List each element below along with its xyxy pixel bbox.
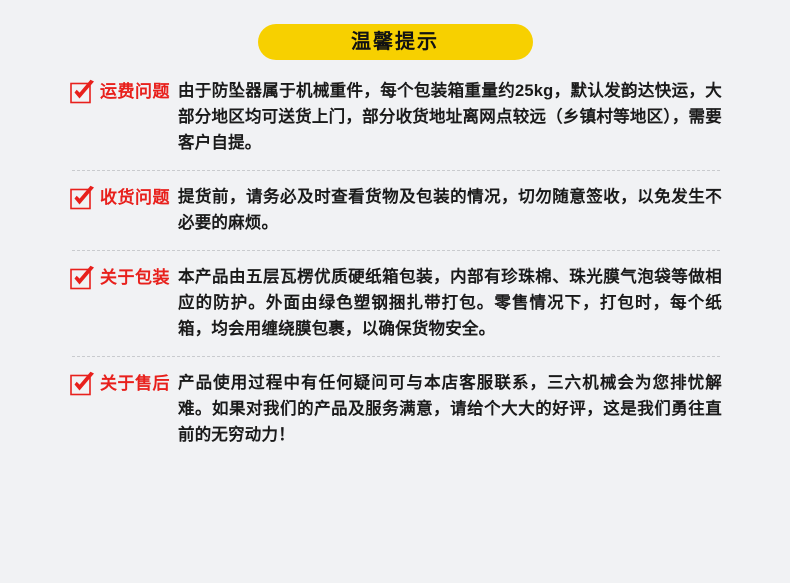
section-heading: 关于售后 [70, 370, 170, 396]
notice-section-after-sales: 关于售后 产品使用过程中有任何疑问可与本店客服联系，三六机械会为您排忧解难。如果… [0, 370, 790, 448]
notice-section-packaging: 关于包装 本产品由五层瓦楞优质硬纸箱包装，内部有珍珠棉、珠光膜气泡袋等做相应的防… [0, 264, 790, 342]
section-body-text: 提货前，请务必及时查看货物及包装的情况，切勿随意签收，以免发生不必要的麻烦。 [178, 184, 722, 236]
section-label: 运费问题 [100, 79, 170, 104]
section-divider [72, 356, 720, 357]
checkbox-checked-icon [70, 186, 96, 210]
section-label: 收货问题 [100, 185, 170, 210]
section-body-text: 产品使用过程中有任何疑问可与本店客服联系，三六机械会为您排忧解难。如果对我们的产… [178, 370, 722, 448]
header-pill: 温馨提示 [258, 24, 533, 60]
section-body-text: 本产品由五层瓦楞优质硬纸箱包装，内部有珍珠棉、珠光膜气泡袋等做相应的防护。外面由… [178, 264, 722, 342]
notice-section-receiving: 收货问题 提货前，请务必及时查看货物及包装的情况，切勿随意签收，以免发生不必要的… [0, 184, 790, 236]
checkbox-checked-icon [70, 80, 96, 104]
section-divider [72, 170, 720, 171]
notice-section-shipping-fee: 运费问题 由于防坠器属于机械重件，每个包装箱重量约25kg，默认发韵达快运，大部… [0, 78, 790, 156]
checkbox-checked-icon [70, 372, 96, 396]
section-divider [72, 250, 720, 251]
header-banner: 温馨提示 [0, 24, 790, 60]
section-heading: 收货问题 [70, 184, 170, 210]
page-title: 温馨提示 [351, 32, 439, 52]
section-heading: 关于包装 [70, 264, 170, 290]
section-label: 关于售后 [100, 371, 170, 396]
notice-page: 温馨提示 运费问题 由于防坠器属于机械重件，每个包装箱重量约25kg，默认发韵达… [0, 0, 790, 583]
section-label: 关于包装 [100, 265, 170, 290]
notice-sections: 运费问题 由于防坠器属于机械重件，每个包装箱重量约25kg，默认发韵达快运，大部… [0, 78, 790, 448]
section-heading: 运费问题 [70, 78, 170, 104]
checkbox-checked-icon [70, 266, 96, 290]
section-body-text: 由于防坠器属于机械重件，每个包装箱重量约25kg，默认发韵达快运，大部分地区均可… [178, 78, 722, 156]
